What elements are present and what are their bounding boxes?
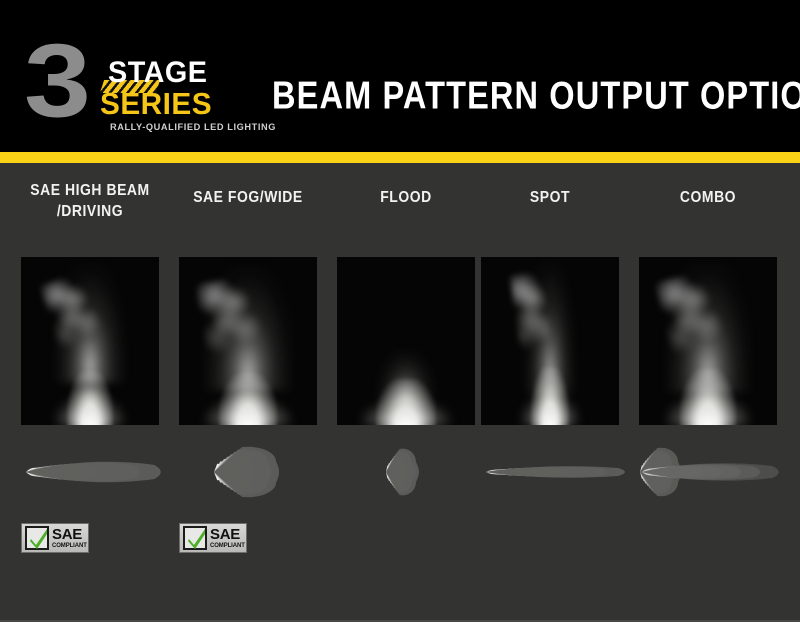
beam-option-label: SAE HIGH BEAM/DRIVING xyxy=(22,180,159,222)
yellow-divider-bar xyxy=(0,152,800,163)
beam-spread-diagram xyxy=(172,441,324,503)
beam-pattern-chart: 3 STAGE SERIES RALLY-QUALIFIED LED LIGHT… xyxy=(0,0,800,622)
beam-photo-inner xyxy=(481,257,619,425)
beam-photo-inner xyxy=(337,257,475,425)
sae-compliant-badge: SAE COMPLIANT xyxy=(21,523,89,553)
beam-photo-ground-glow xyxy=(56,396,125,425)
logo-series-text: SERIES xyxy=(100,86,212,121)
checkmark-icon xyxy=(187,528,207,550)
sae-badge-secondary: COMPLIANT xyxy=(210,543,245,549)
beam-spread-diagram xyxy=(330,441,482,503)
page-title: BEAM PATTERN OUTPUT OPTIONS xyxy=(272,74,800,119)
beam-photo-inner xyxy=(639,257,777,425)
beam-output-photo[interactable] xyxy=(481,257,619,425)
beam-option-column[interactable]: FLOOD xyxy=(330,163,482,622)
header-banner: 3 STAGE SERIES RALLY-QUALIFIED LED LIGHT… xyxy=(0,0,800,152)
sae-badge-primary: SAE xyxy=(210,527,245,542)
beam-output-photo[interactable] xyxy=(337,257,475,425)
beam-option-label: COMBO xyxy=(640,187,777,208)
logo-stage-text: STAGE xyxy=(108,56,207,89)
sae-compliant-badge: SAE COMPLIANT xyxy=(179,523,247,553)
checkmark-icon xyxy=(29,528,49,550)
beam-option-label: SPOT xyxy=(482,187,619,208)
beam-output-photo[interactable] xyxy=(21,257,159,425)
beam-option-label-line1: SPOT xyxy=(530,189,570,206)
diode-dynamics-stage-series-logo: 3 STAGE SERIES RALLY-QUALIFIED LED LIGHT… xyxy=(24,28,244,132)
beam-option-column[interactable]: SAE HIGH BEAM/DRIVING SAE COMPLIANT xyxy=(14,163,166,622)
beam-photo-inner xyxy=(21,257,159,425)
sae-check-box xyxy=(25,526,49,550)
beam-spread-diagram xyxy=(14,441,166,503)
beam-option-label-line2: /DRIVING xyxy=(57,203,123,220)
beam-option-label: SAE FOG/WIDE xyxy=(180,187,317,208)
beam-output-photo[interactable] xyxy=(639,257,777,425)
sae-badge-text: SAE COMPLIANT xyxy=(210,527,245,549)
beam-spread-diagram xyxy=(632,441,784,503)
beam-option-label-line1: SAE FOG/WIDE xyxy=(193,189,303,206)
sae-badge-secondary: COMPLIANT xyxy=(52,543,87,549)
beam-photo-ground-glow xyxy=(205,397,292,425)
beam-option-label-line1: FLOOD xyxy=(380,189,432,206)
beam-photo-ground-glow xyxy=(666,395,750,425)
beam-photo-ground-glow xyxy=(522,394,579,425)
beam-option-column[interactable]: COMBO xyxy=(632,163,784,622)
logo-word-series: SERIES xyxy=(100,86,212,122)
logo-word-stage: STAGE xyxy=(108,56,207,90)
beam-output-photo[interactable] xyxy=(179,257,317,425)
beam-photo-ground-glow xyxy=(361,400,451,425)
beam-spread-diagram xyxy=(474,441,626,503)
beam-photo-inner xyxy=(179,257,317,425)
sae-check-box xyxy=(183,526,207,550)
beam-option-label-line1: SAE HIGH BEAM xyxy=(30,182,149,199)
beam-options-grid: SAE HIGH BEAM/DRIVING SAE COMPLIANT xyxy=(0,163,800,622)
beam-option-column[interactable]: SPOT xyxy=(474,163,626,622)
beam-option-column[interactable]: SAE FOG/WIDE SAE COMPLIANT xyxy=(172,163,324,622)
sae-badge-primary: SAE xyxy=(52,527,87,542)
beam-option-label: FLOOD xyxy=(338,187,475,208)
beam-option-label-line1: COMBO xyxy=(680,189,736,206)
logo-tagline: RALLY-QUALIFIED LED LIGHTING xyxy=(110,122,276,133)
sae-badge-text: SAE COMPLIANT xyxy=(52,527,87,549)
logo-numeral-three: 3 xyxy=(24,30,84,132)
